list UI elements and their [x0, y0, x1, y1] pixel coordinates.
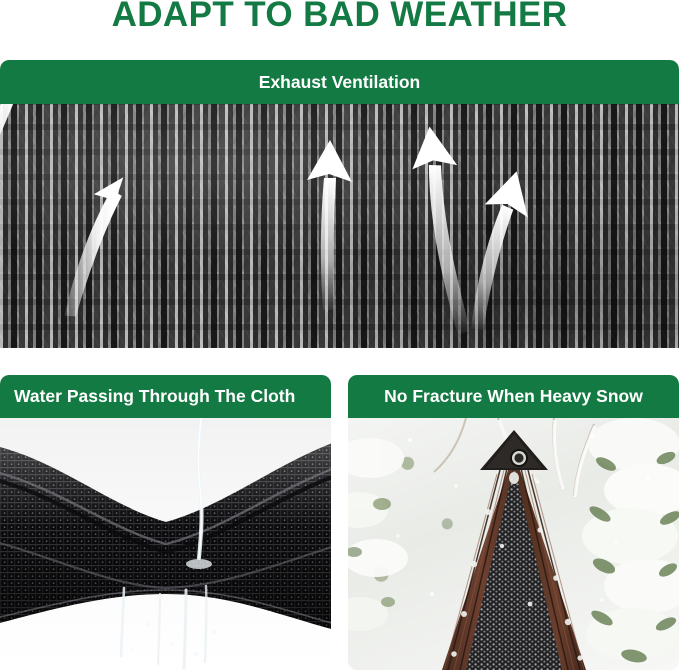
water-stream: [0, 418, 331, 670]
airflow-arrow-1: [0, 104, 35, 174]
water-through-cloth-photo: [0, 418, 331, 670]
shade-cloth-mesh-photo: [0, 104, 679, 348]
airflow-arrow-4: [407, 124, 471, 336]
panel-no-fracture-snow: No Fracture When Heavy Snow: [348, 375, 679, 670]
panel-banner-label: Water Passing Through The Cloth: [14, 386, 295, 407]
panel-banner-label: No Fracture When Heavy Snow: [384, 386, 643, 407]
panel-water-passing: Water Passing Through The Cloth: [0, 375, 331, 670]
airflow-arrow-5: [467, 166, 538, 332]
page-title: ADAPT TO BAD WEATHER: [0, 0, 679, 38]
panel-banner-no-fracture-snow: No Fracture When Heavy Snow: [348, 375, 679, 418]
airflow-arrow-3: [307, 140, 352, 311]
panel-banner-water-passing: Water Passing Through The Cloth: [0, 375, 331, 418]
product-infographic: ADAPT TO BAD WEATHER Exhaust Ventilation: [0, 0, 679, 670]
panel-banner-label: Exhaust Ventilation: [259, 72, 420, 93]
airflow-arrow-2: [60, 170, 124, 320]
panel-banner-exhaust-ventilation: Exhaust Ventilation: [0, 60, 679, 104]
snow-covered-cover-photo: [348, 418, 679, 670]
airflow-arrows: [0, 104, 679, 348]
panel-exhaust-ventilation: Exhaust Ventilation: [0, 60, 679, 348]
falling-snow-specks: [348, 418, 679, 670]
